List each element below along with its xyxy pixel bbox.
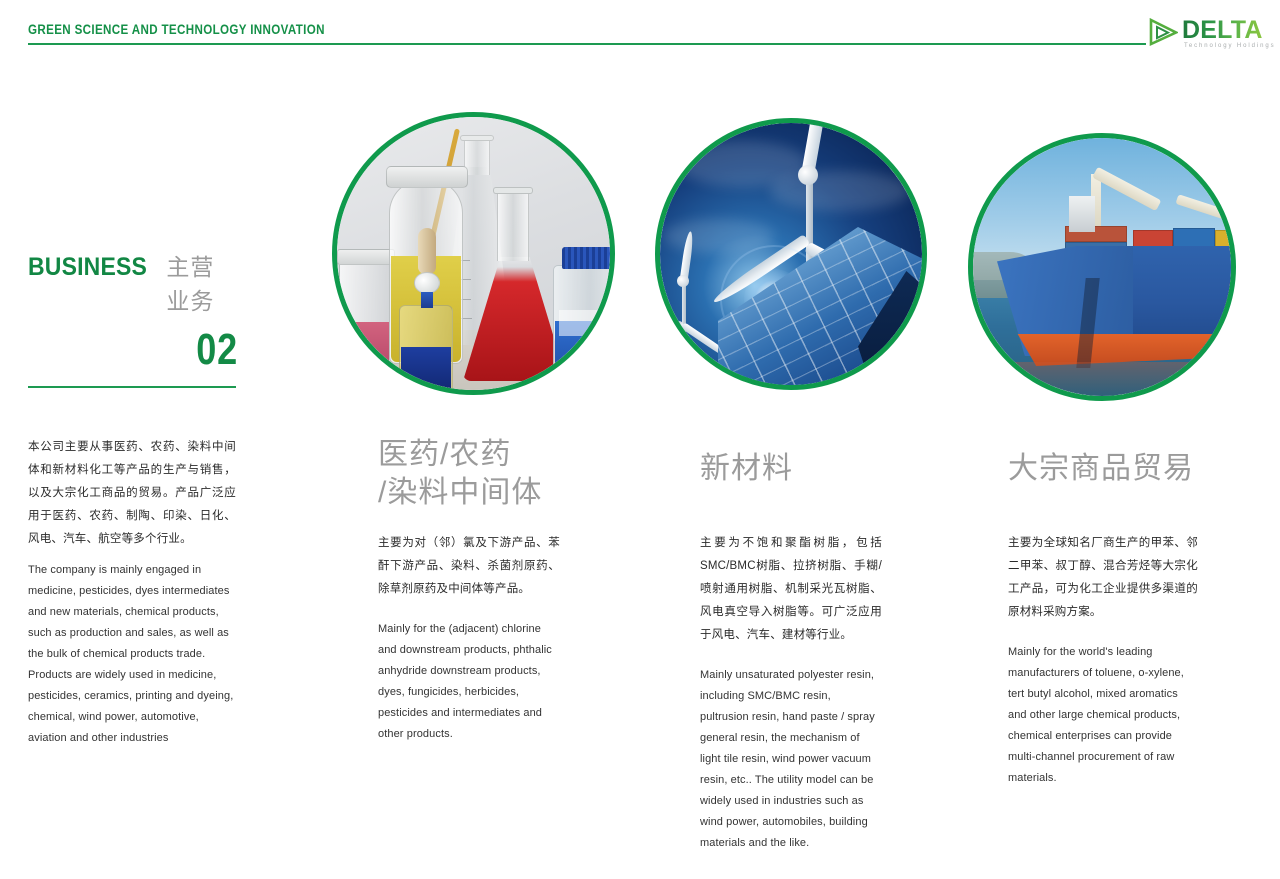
intro-paragraph-en: The company is mainly engaged in medicin… <box>28 560 234 749</box>
section-title-cn: 主营业务 <box>166 248 238 316</box>
pink-reagent-bottle-icon <box>339 259 391 369</box>
column-body-en: Mainly unsaturated polyester resin, incl… <box>700 665 882 854</box>
container-cargo-ship-photo <box>973 138 1231 396</box>
column-body-cn: 主要为不饱和聚酯树脂，包括SMC/BMC树脂、拉挤树脂、手糊/喷射通用树脂、机制… <box>700 532 882 647</box>
column-body-en: Mainly for the (adjacent) chlorine and d… <box>378 619 560 745</box>
logo-tagline: Technology Holdings <box>1184 43 1275 49</box>
wind-turbine-solar-panel-photo <box>660 123 922 385</box>
column-trade: 大宗商品贸易 主要为全球知名厂商生产的甲苯、邻二甲苯、叔丁醇、混合芳烃等大宗化工… <box>1008 450 1198 789</box>
section-divider <box>28 386 236 388</box>
delta-triangle-icon <box>1148 18 1178 46</box>
column-body-cn: 主要为对（邻）氯及下游产品、苯酐下游产品、染料、杀菌剂原药、除草剂原药及中间体等… <box>378 532 560 601</box>
intro-paragraph-cn: 本公司主要从事医药、农药、染料中间体和新材料化工等产品的生产与销售，以及大宗化工… <box>28 436 236 551</box>
column-pharma: 医药/农药 /染料中间体 主要为对（邻）氯及下游产品、苯酐下游产品、染料、杀菌剂… <box>378 436 560 745</box>
sea-reflection <box>1003 362 1231 396</box>
image-circle-materials <box>655 118 927 390</box>
header-tagline: GREEN SCIENCE AND TECHNOLOGY INNOVATION <box>28 22 325 37</box>
column-body-en: Mainly for the world's leading manufactu… <box>1008 642 1198 789</box>
column-materials: 新材料 主要为不饱和聚酯树脂，包括SMC/BMC树脂、拉挤树脂、手糊/喷射通用树… <box>700 450 882 854</box>
header-divider <box>28 43 1146 45</box>
column-heading: 新材料 <box>700 450 882 488</box>
logo-wordmark: DELTA <box>1182 16 1263 44</box>
section-heading-block: BUSINESS 主营业务 02 <box>28 248 238 388</box>
image-circle-trade <box>968 133 1236 401</box>
ship-hull-stern <box>1133 246 1231 348</box>
red-erlenmeyer-flask-icon <box>463 257 567 381</box>
slide-page: GREEN SCIENCE AND TECHNOLOGY INNOVATION … <box>0 0 1280 879</box>
column-heading: 大宗商品贸易 <box>1008 450 1198 488</box>
section-title-row: BUSINESS 主营业务 <box>28 248 238 316</box>
column-heading: 医药/农药 /染料中间体 <box>378 436 560 512</box>
section-title-en: BUSINESS <box>28 253 147 282</box>
image-circle-pharma <box>332 112 615 395</box>
laboratory-glassware-photo <box>337 117 610 390</box>
brand-logo: DELTA Technology Holdings <box>1148 16 1272 52</box>
column-body-cn: 主要为全球知名厂商生产的甲苯、邻二甲苯、叔丁醇、混合芳烃等大宗化工产品，可为化工… <box>1008 532 1198 624</box>
section-number: 02 <box>66 324 238 376</box>
blue-cap-lab-bottle-icon <box>553 265 610 389</box>
blue-dropper-bottle-icon <box>399 305 453 390</box>
